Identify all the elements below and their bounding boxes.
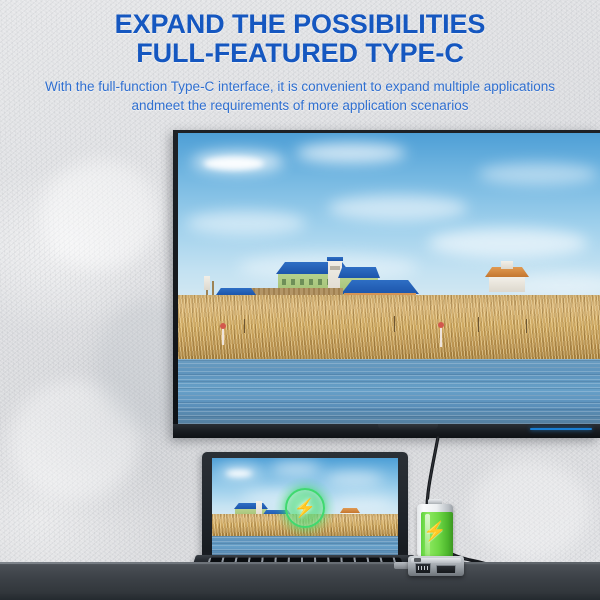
cloud <box>296 143 406 163</box>
cloud <box>478 163 598 185</box>
building-wall <box>501 261 513 269</box>
reed-texture <box>178 295 600 359</box>
usb-c-docking-station <box>408 556 464 582</box>
rj45-pins <box>418 566 429 570</box>
lightning-bolt-icon: ⚡ <box>294 499 316 517</box>
cloud <box>186 211 306 235</box>
shore-marker-top <box>438 322 444 328</box>
cloud <box>270 463 322 474</box>
page-subtitle: With the full-function Type-C interface,… <box>0 77 600 116</box>
shore-marker-top <box>220 323 226 329</box>
laptop-lid: ⚡ <box>202 452 408 565</box>
charging-badge: ⚡ <box>274 477 336 539</box>
building-wall <box>489 277 525 292</box>
laptop: ⚡ <box>196 452 414 577</box>
desk-surface <box>0 562 600 600</box>
laptop-screen: ⚡ <box>212 458 398 558</box>
building-roof <box>341 280 419 294</box>
shore-marker <box>440 325 442 347</box>
wall-blotch <box>40 160 160 270</box>
tower-roof <box>327 257 343 261</box>
cloud <box>226 470 252 477</box>
tv-scene-coastal-landscape <box>178 133 600 424</box>
tv-accent-stripe <box>530 428 592 430</box>
reed-post <box>394 316 395 332</box>
rj45-ethernet-port <box>415 563 431 574</box>
tv-bottom-bezel <box>173 424 600 438</box>
hub-logo <box>414 558 421 562</box>
small-structure <box>204 276 210 290</box>
headline-line-1: EXPAND THE POSSIBILITIES <box>0 10 600 39</box>
reed-post <box>244 319 245 333</box>
lightning-bolt-icon: ⚡ <box>423 522 447 541</box>
cloud <box>328 195 468 221</box>
cloud <box>332 496 394 510</box>
cloud <box>204 157 264 170</box>
cloud <box>428 228 588 258</box>
television <box>173 130 600 438</box>
building-roof <box>338 267 380 278</box>
water-texture <box>178 359 600 424</box>
desk-edge-highlight <box>0 562 600 564</box>
tv-screen <box>178 133 600 424</box>
desk-front-lip <box>0 594 600 600</box>
charging-battery-indicator: ⚡ <box>415 499 455 557</box>
wall-blotch <box>470 460 590 560</box>
tv-center-notch <box>378 424 438 430</box>
reed-post <box>526 319 527 333</box>
reed-post <box>478 317 479 332</box>
hub-body <box>408 556 464 576</box>
battery-shell: ⚡ <box>417 504 453 557</box>
tower-windows <box>330 266 340 270</box>
usb-c-plug <box>394 562 409 569</box>
hdmi-port <box>436 565 456 574</box>
headline-line-2: FULL-FEATURED TYPE-C <box>0 39 600 68</box>
laptop-scene-coastal-landscape: ⚡ <box>212 458 398 558</box>
page-title: EXPAND THE POSSIBILITIES FULL-FEATURED T… <box>0 10 600 69</box>
header-block: EXPAND THE POSSIBILITIES FULL-FEATURED T… <box>0 0 600 128</box>
